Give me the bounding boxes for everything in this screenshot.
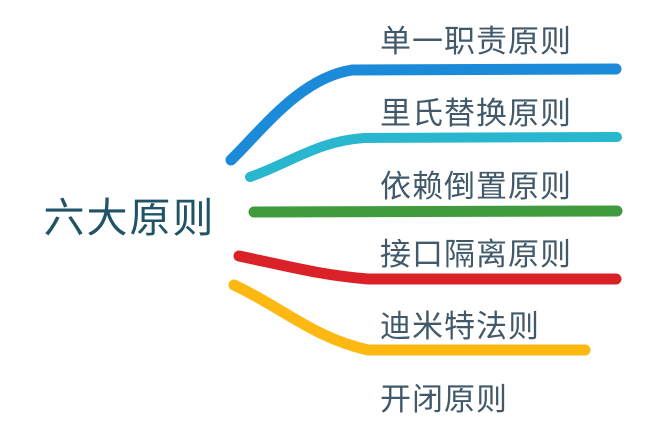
branch-label-text: 里氏替换原则: [380, 88, 572, 133]
branch-label-interface-segregation[interactable]: 接口隔离原则: [380, 231, 572, 271]
mind-map-canvas: 六大原则 单一职责原则 里氏替换原则 依赖倒置原则 接口隔离原则 迪米特法则 开…: [0, 0, 646, 437]
branch-label-liskov-substitution[interactable]: 里氏替换原则: [380, 90, 572, 130]
root-node[interactable]: 六大原则: [22, 185, 237, 243]
branch-label-text: 接口隔离原则: [380, 229, 572, 274]
root-node-label: 六大原则: [44, 184, 216, 244]
branch-label-text: 迪米特法则: [380, 301, 540, 346]
branch-line-dependency-inversion[interactable]: [254, 211, 617, 212]
branch-label-single-responsibility[interactable]: 单一职责原则: [380, 18, 572, 58]
branch-label-open-closed[interactable]: 开闭原则: [380, 376, 508, 416]
branch-label-law-of-demeter[interactable]: 迪米特法则: [380, 303, 540, 343]
branch-label-text: 单一职责原则: [380, 16, 572, 61]
branch-label-text: 依赖倒置原则: [380, 161, 572, 206]
branch-label-text: 开闭原则: [380, 374, 508, 419]
branch-label-dependency-inversion[interactable]: 依赖倒置原则: [380, 163, 572, 203]
